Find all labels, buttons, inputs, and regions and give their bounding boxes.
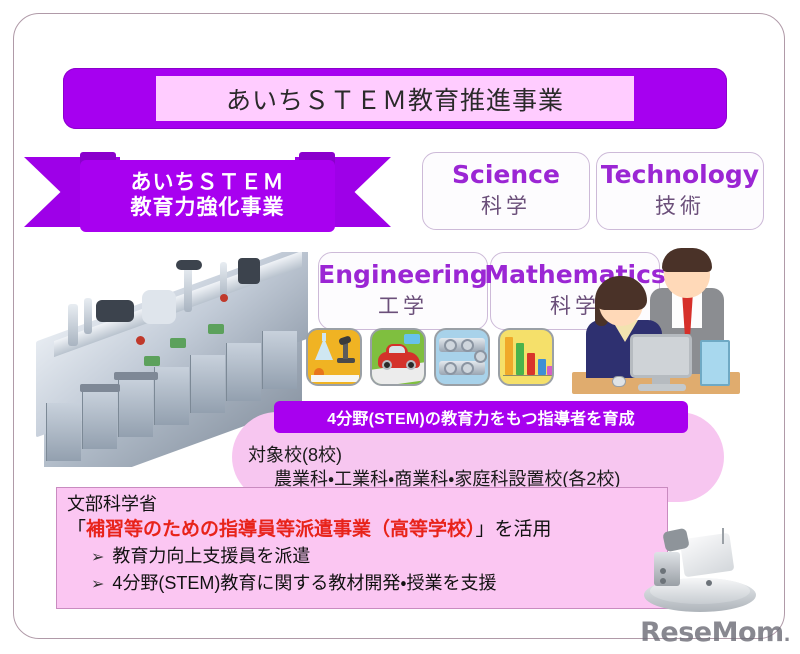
paper-sheet [311,375,359,382]
machine-indicator [144,356,160,366]
robot-detail [660,568,666,574]
chart-axis [503,375,553,376]
program-quote-line: 「補習等のための指導員等派遣事業（高等学校）」を活用 [67,516,667,544]
machine-cabinet [226,343,261,401]
chart-bar [505,337,513,375]
gear-icon [444,362,457,375]
bullet-arrow-icon: ➢ [91,576,104,593]
subject-icon-row [306,328,558,388]
science-flask-microscope-icon [306,328,362,386]
gear-icon [474,350,487,363]
ribbon-body: あいちＳＴＥＭ 教育力強化事業 [80,160,335,232]
teacher-and-student-at-computer-illustration [572,248,740,394]
robot-detail [660,578,666,584]
machine-arm [184,266,192,312]
program-use-suffix: を活用 [495,519,552,540]
stem-box-engineering: Engineering 工学 [318,252,488,330]
ribbon-banner: あいちＳＴＥＭ 教育力強化事業 [24,152,391,232]
watermark-text: ReseMom [640,617,784,648]
woman-hair [595,276,647,310]
goal-banner-text: 4分野(STEM)の教育力をもつ指導者を育成 [327,405,635,429]
machine-tray [114,372,158,380]
flask-neck [322,333,326,341]
machine-cabinet [82,391,117,449]
program-bullet-1-text: 教育力向上支援員を派遣 [112,546,310,566]
target-schools-text: 対象校(8校) 農業科・工業科・商業科・家庭科設置校(各2校) [248,443,718,492]
flask-icon [315,338,333,360]
machine-tray [80,384,120,392]
stem-label-ja-science: 科学 [481,190,531,220]
machine-indicator [208,324,224,334]
bullet-arrow-icon: ➢ [91,549,104,566]
car-wheel [406,360,416,370]
car-wheel [382,360,392,370]
sparkle-icon [404,334,420,344]
chart-bar [527,353,535,375]
folder-icon [700,340,730,386]
ribbon-line-2: 教育力強化事業 [131,196,285,221]
watermark-dot: . [784,625,790,646]
engineering-machine-icon [434,328,490,386]
mathematics-barchart-icon [498,328,554,386]
machine-module [238,258,260,284]
mext-program-box: 文部科学省 「補習等のための指導員等派遣事業（高等学校）」を活用 ➢教育力向上支… [56,487,668,609]
target-schools-line-1: 対象校(8校) [248,443,718,467]
machine-arm [84,298,92,334]
page-title: あいちＳＴＥＭ教育推進事業 [156,76,634,121]
program-bullet-2-text: 4分野(STEM)教育に関する教材開発・授業を支援 [112,573,496,593]
machine-cabinet [262,331,297,389]
goal-banner: 4分野(STEM)の教育力をもつ指導者を育成 [274,401,688,433]
robot-antenna [722,528,724,544]
car-window [389,346,405,353]
machine-indicator [170,338,186,348]
title-bar: あいちＳＴＥＭ教育推進事業 [63,68,727,129]
title-inner-panel: あいちＳＴＥＭ教育推進事業 [156,76,634,121]
watermark: ReseMom. [640,617,790,648]
ministry-label: 文部科学省 [67,493,667,516]
program-bullet-2: ➢4分野(STEM)教育に関する教材開発・授業を支援 [91,570,667,597]
machine-button [220,294,228,302]
stem-box-technology: Technology 技術 [596,152,764,230]
quote-open-mark: 「 [67,519,86,540]
stem-box-science: Science 科学 [422,152,590,230]
gear-icon [461,362,474,375]
machine-button [136,336,145,345]
machine-cabinet [190,355,225,413]
machine-arm [68,304,78,346]
machine-head [176,260,202,270]
computer-monitor [630,334,692,378]
microscope-icon [337,337,355,363]
program-bullet-1: ➢教育力向上支援員を派遣 [91,543,667,570]
quote-close-mark: 」 [476,519,495,540]
stem-label-en-science: Science [452,162,560,188]
stem-label-en-engineering: Engineering [318,262,488,288]
man-hair [662,248,712,272]
ribbon-text: あいちＳＴＥＭ 教育力強化事業 [80,160,335,232]
chart-bar [516,343,524,375]
robot-arm [654,552,680,586]
mobile-robot-photo [644,528,756,618]
program-name: 補習等のための指導員等派遣事業（高等学校） [86,519,476,540]
technology-car-icon [370,328,426,386]
monitor-base [638,384,686,391]
chart-bar [538,359,546,375]
machine-cabinet [154,367,189,425]
stem-label-ja-engineering: 工学 [378,290,428,320]
stem-label-en-technology: Technology [601,162,759,188]
chart-bar [547,366,554,375]
machine-cabinet [46,403,81,461]
gear-icon [461,339,474,352]
ribbon-line-1: あいちＳＴＥＭ [131,171,285,196]
machine-module [142,290,176,324]
machine-module [96,300,134,322]
gear-icon [444,339,457,352]
slide-root: あいちＳＴＥＭ教育推進事業 あいちＳＴＥＭ 教育力強化事業 Science 科学… [0,0,800,654]
robot-detail [706,580,712,586]
stem-label-ja-technology: 技術 [655,190,705,220]
machine-cabinet [118,379,153,437]
computer-mouse [612,376,626,387]
